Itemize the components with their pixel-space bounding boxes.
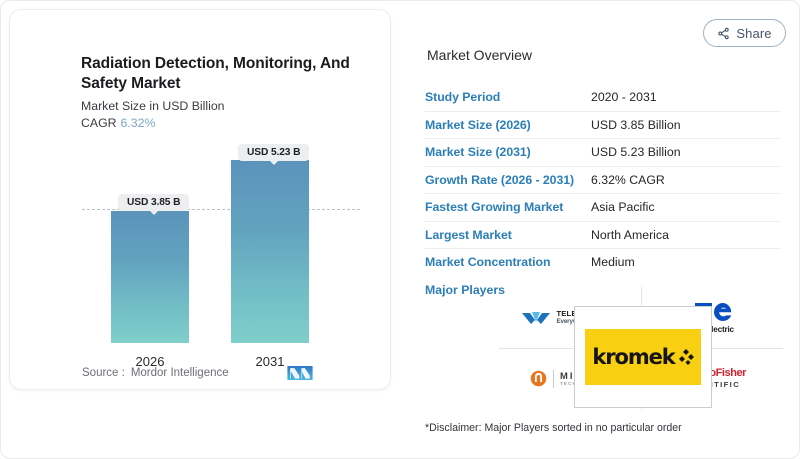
row-value: Asia Pacific bbox=[591, 200, 655, 214]
chart-card: Radiation Detection, Monitoring, And Saf… bbox=[9, 9, 391, 390]
bar-2026 bbox=[111, 211, 189, 343]
row-value: USD 5.23 Billion bbox=[591, 145, 681, 159]
row-value: Medium bbox=[591, 255, 635, 269]
row-key: Market Size (2031) bbox=[425, 145, 591, 159]
table-row: Growth Rate (2026 - 2031) 6.32% CAGR bbox=[425, 167, 781, 195]
bar-2031 bbox=[231, 160, 309, 343]
mirion-divider bbox=[553, 370, 554, 388]
source-row: Source : Mordor Intelligence bbox=[82, 367, 320, 379]
table-row: Fastest Growing Market Asia Pacific bbox=[425, 194, 781, 222]
row-value: USD 3.85 Billion bbox=[591, 118, 681, 132]
share-button[interactable]: Share bbox=[703, 19, 786, 47]
bar-chart-plot: USD 3.85 B USD 5.23 B 2026 2031 bbox=[10, 10, 391, 390]
share-icon bbox=[717, 27, 730, 40]
bar-label-2031: USD 5.23 B bbox=[238, 144, 309, 161]
share-button-label: Share bbox=[736, 26, 771, 41]
market-snapshot-page: Share Radiation Detection, Monitoring, A… bbox=[0, 0, 800, 459]
row-key: Fastest Growing Market bbox=[425, 200, 591, 214]
table-row: Market Size (2031) USD 5.23 Billion bbox=[425, 139, 781, 167]
row-value: 2020 - 2031 bbox=[591, 90, 657, 104]
row-key: Study Period bbox=[425, 90, 591, 104]
disclaimer-text: *Disclaimer: Major Players sorted in no … bbox=[425, 422, 682, 434]
source-name: Mordor Intelligence bbox=[131, 367, 229, 379]
mirion-mark-icon bbox=[530, 370, 547, 387]
row-key: Market Concentration bbox=[425, 255, 591, 269]
kromek-name: kromek bbox=[592, 345, 674, 369]
row-value: 6.32% CAGR bbox=[591, 173, 665, 187]
row-key: Largest Market bbox=[425, 228, 591, 242]
row-key: Market Size (2026) bbox=[425, 118, 591, 132]
bar-label-2026: USD 3.85 B bbox=[118, 194, 189, 211]
major-players-grid: TELEDYNE FLIR Everywhereyoulook Fuji Ele… bbox=[499, 287, 783, 409]
table-row: Largest Market North America bbox=[425, 222, 781, 250]
kromek-diamonds-icon bbox=[678, 349, 694, 365]
table-row: Market Concentration Medium bbox=[425, 249, 781, 276]
table-row: Study Period 2020 - 2031 bbox=[425, 84, 781, 112]
row-key: Growth Rate (2026 - 2031) bbox=[425, 173, 591, 187]
market-overview-table: Study Period 2020 - 2031 Market Size (20… bbox=[425, 84, 781, 276]
major-players-label: Major Players bbox=[425, 283, 505, 297]
teledyne-bird-icon bbox=[521, 309, 551, 326]
market-overview-heading: Market Overview bbox=[427, 47, 532, 63]
mordor-intelligence-logo bbox=[286, 363, 314, 383]
player-logo-kromek: kromek bbox=[574, 306, 712, 408]
table-row: Market Size (2026) USD 3.85 Billion bbox=[425, 112, 781, 140]
source-label: Source : bbox=[82, 367, 125, 379]
row-value: North America bbox=[591, 228, 669, 242]
